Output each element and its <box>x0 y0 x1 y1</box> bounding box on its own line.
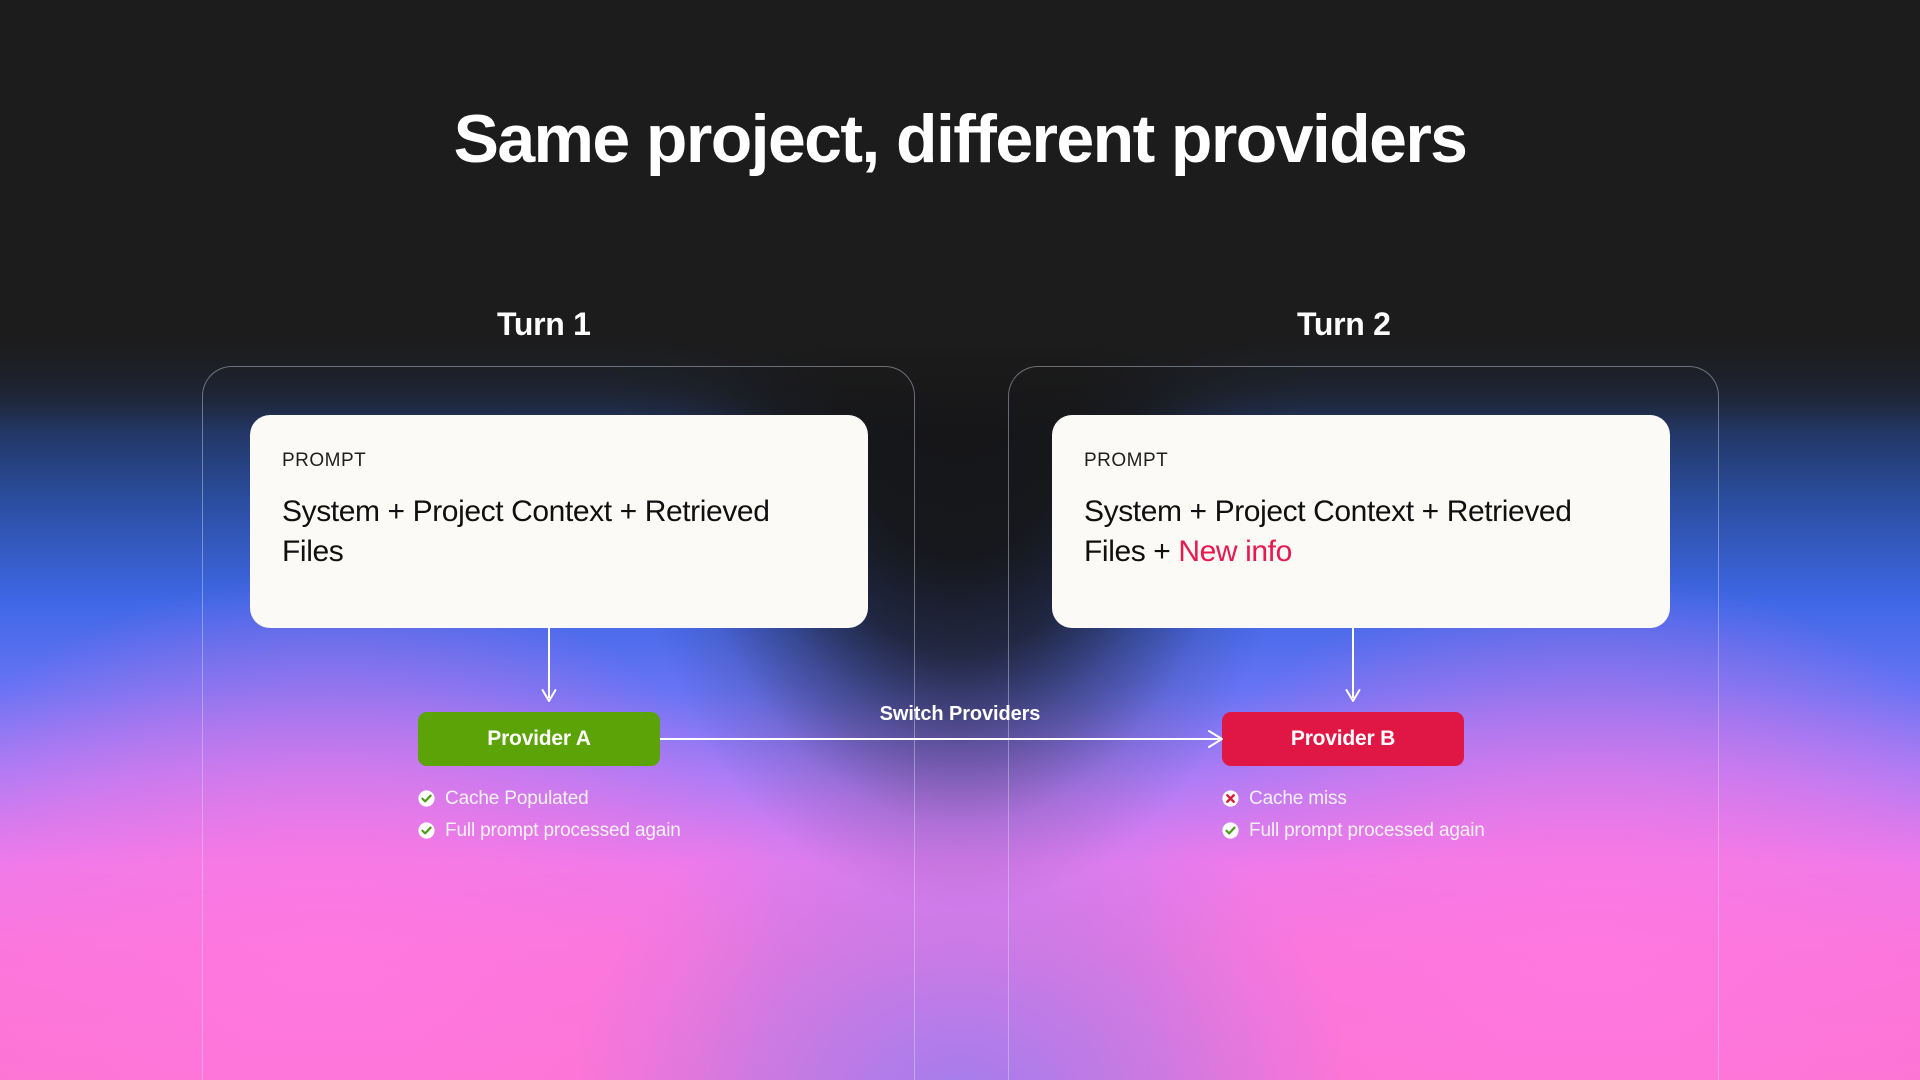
prompt-body-accent: New info <box>1178 535 1292 568</box>
turn-1-status-list: Cache Populated Full prompt processed ag… <box>418 786 681 850</box>
turn-2-prompt-card: PROMPT System + Project Context + Retrie… <box>1052 415 1670 628</box>
flow-arrow-down-turn-1 <box>538 628 560 708</box>
turn-2-status-list: Cache miss Full prompt processed again <box>1222 786 1485 850</box>
check-circle-icon <box>418 822 435 839</box>
status-item: Full prompt processed again <box>418 818 681 843</box>
prompt-kicker: PROMPT <box>282 451 836 470</box>
status-label: Cache Populated <box>445 788 589 810</box>
flow-arrow-down-turn-2 <box>1342 628 1364 708</box>
page-title: Same project, different providers <box>0 104 1920 175</box>
provider-a-label: Provider A <box>487 727 590 751</box>
status-label: Full prompt processed again <box>1249 820 1485 842</box>
check-circle-icon <box>418 790 435 807</box>
check-circle-icon <box>1222 822 1239 839</box>
status-label: Full prompt processed again <box>445 820 681 842</box>
turn-1-label: Turn 1 <box>497 306 591 343</box>
turn-1-prompt-card: PROMPT System + Project Context + Retrie… <box>250 415 868 628</box>
turn-2-label: Turn 2 <box>1297 306 1391 343</box>
background-top-band <box>0 0 1920 430</box>
provider-a-button[interactable]: Provider A <box>418 712 660 766</box>
prompt-body: System + Project Context + Retrieved Fil… <box>282 492 836 572</box>
status-label: Cache miss <box>1249 788 1347 810</box>
status-item: Cache Populated <box>418 786 681 811</box>
prompt-body: System + Project Context + Retrieved Fil… <box>1084 492 1638 572</box>
provider-b-label: Provider B <box>1291 727 1395 751</box>
diagram-canvas: Same project, different providers Turn 1… <box>0 0 1920 1080</box>
switch-providers-arrow <box>660 724 1230 754</box>
prompt-body-text: System + Project Context + Retrieved Fil… <box>1084 495 1572 568</box>
status-item: Full prompt processed again <box>1222 818 1485 843</box>
provider-b-button[interactable]: Provider B <box>1222 712 1464 766</box>
prompt-body-text: System + Project Context + Retrieved Fil… <box>282 495 770 568</box>
cross-circle-icon <box>1222 790 1239 807</box>
prompt-kicker: PROMPT <box>1084 451 1638 470</box>
status-item: Cache miss <box>1222 786 1485 811</box>
